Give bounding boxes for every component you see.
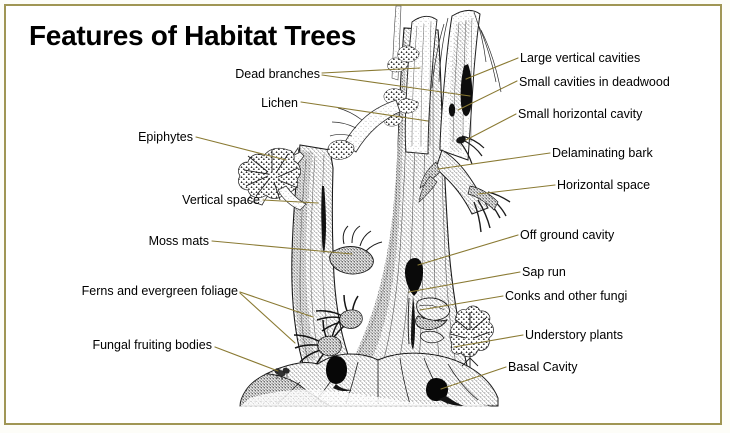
label-small-horizontal-cavity: Small horizontal cavity	[518, 108, 642, 121]
label-sap-run: Sap run	[522, 266, 566, 279]
label-conks-and-other-fungi: Conks and other fungi	[505, 290, 627, 303]
label-horizontal-space: Horizontal space	[557, 179, 650, 192]
leader-line-epiphytes	[196, 137, 286, 160]
label-off-ground-cavity: Off ground cavity	[520, 229, 614, 242]
label-small-cavities-in-deadwood: Small cavities in deadwood	[519, 76, 670, 89]
label-understory-plants: Understory plants	[525, 329, 623, 342]
leader-line-small-horizontal-cavity	[466, 114, 516, 140]
leader-line-horizontal-space	[478, 185, 555, 194]
label-fungal-fruiting-bodies: Fungal fruiting bodies	[92, 339, 212, 352]
leader-line-fungal-fruiting-bodies	[215, 347, 278, 371]
label-basal-cavity: Basal Cavity	[508, 361, 577, 374]
label-moss-mats: Moss mats	[149, 235, 209, 248]
label-lichen: Lichen	[261, 97, 298, 110]
slide-canvas: Features of Habitat Trees Dead branchesL…	[0, 0, 730, 433]
label-delaminating-bark: Delaminating bark	[552, 147, 653, 160]
basal-cavity-left-hole	[326, 356, 347, 384]
leader-line-ferns-and-evergreen-foliage-2	[240, 293, 295, 343]
moss-mats	[330, 226, 382, 274]
page-title: Features of Habitat Trees	[29, 20, 356, 52]
label-epiphytes: Epiphytes	[138, 131, 193, 144]
label-dead-branches: Dead branches	[235, 68, 320, 81]
label-large-vertical-cavities: Large vertical cavities	[520, 52, 640, 65]
label-ferns-and-evergreen-foliage: Ferns and evergreen foliage	[82, 285, 238, 298]
label-vertical-space: Vertical space	[182, 194, 260, 207]
